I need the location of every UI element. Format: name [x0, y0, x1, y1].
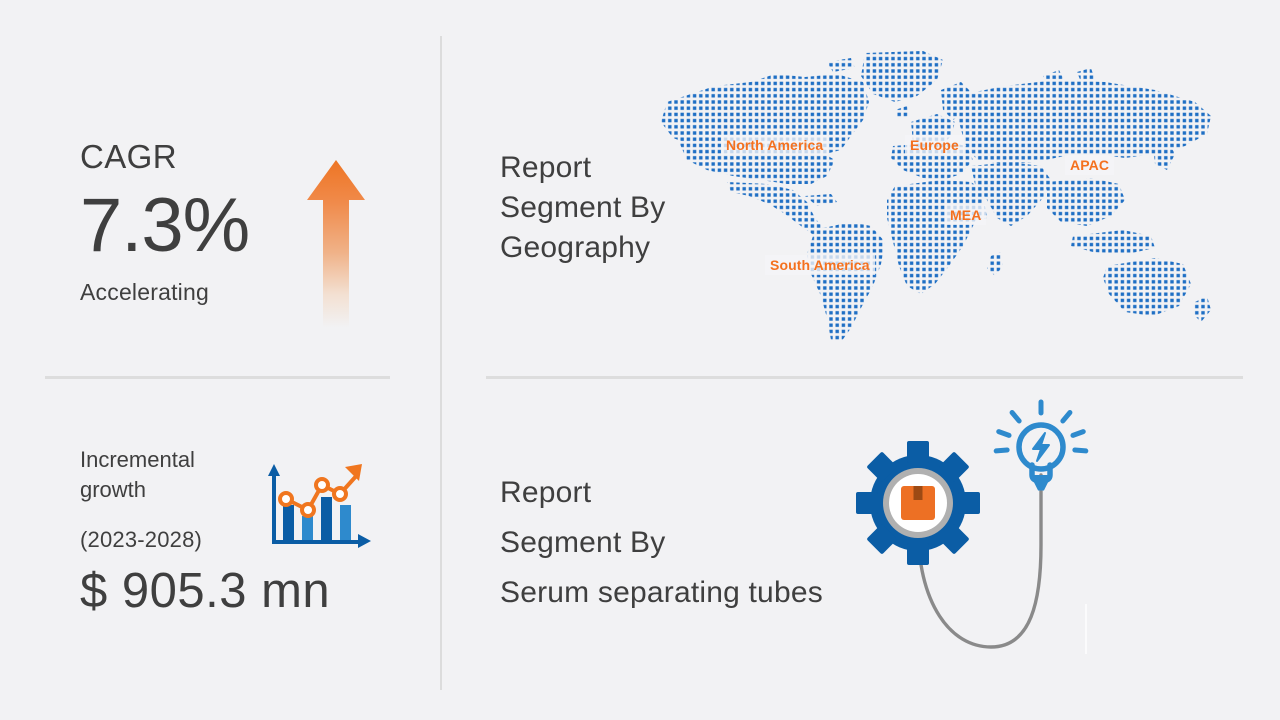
up-arrow-gradient-icon	[305, 158, 367, 330]
slide-root: CAGR 7.3% Accelerating Incremental growt…	[0, 0, 1280, 720]
geography-title-line1: Report	[500, 151, 591, 184]
bar-line-growth-chart-icon	[261, 452, 376, 557]
geography-title-line3: Geography	[500, 231, 650, 264]
segment-title-line3: Serum separating tubes	[500, 576, 823, 609]
segment-title-line1: Report	[500, 476, 591, 509]
geography-title-line2: Segment By	[500, 191, 665, 224]
incremental-growth-label: Incremental growth	[80, 445, 270, 505]
segment-title-line2: Segment By	[500, 526, 665, 559]
map-label-south-america: South America	[765, 255, 875, 275]
right-horizontal-divider	[486, 376, 1243, 379]
incremental-growth-value: $ 905.3 mn	[80, 563, 420, 619]
gear-package-lightbulb-icon	[855, 395, 1125, 665]
map-label-apac: APAC	[1065, 155, 1114, 175]
left-horizontal-divider	[45, 376, 390, 379]
vertical-divider	[440, 36, 442, 690]
dotted-world-map-icon: North America South America Europe MEA A…	[655, 50, 1220, 350]
map-label-mea: MEA	[945, 205, 986, 225]
map-label-europe: Europe	[905, 135, 964, 155]
incremental-growth-label-line2: growth	[80, 477, 146, 502]
map-label-north-america: North America	[721, 135, 828, 155]
incremental-growth-label-line1: Incremental	[80, 447, 195, 472]
